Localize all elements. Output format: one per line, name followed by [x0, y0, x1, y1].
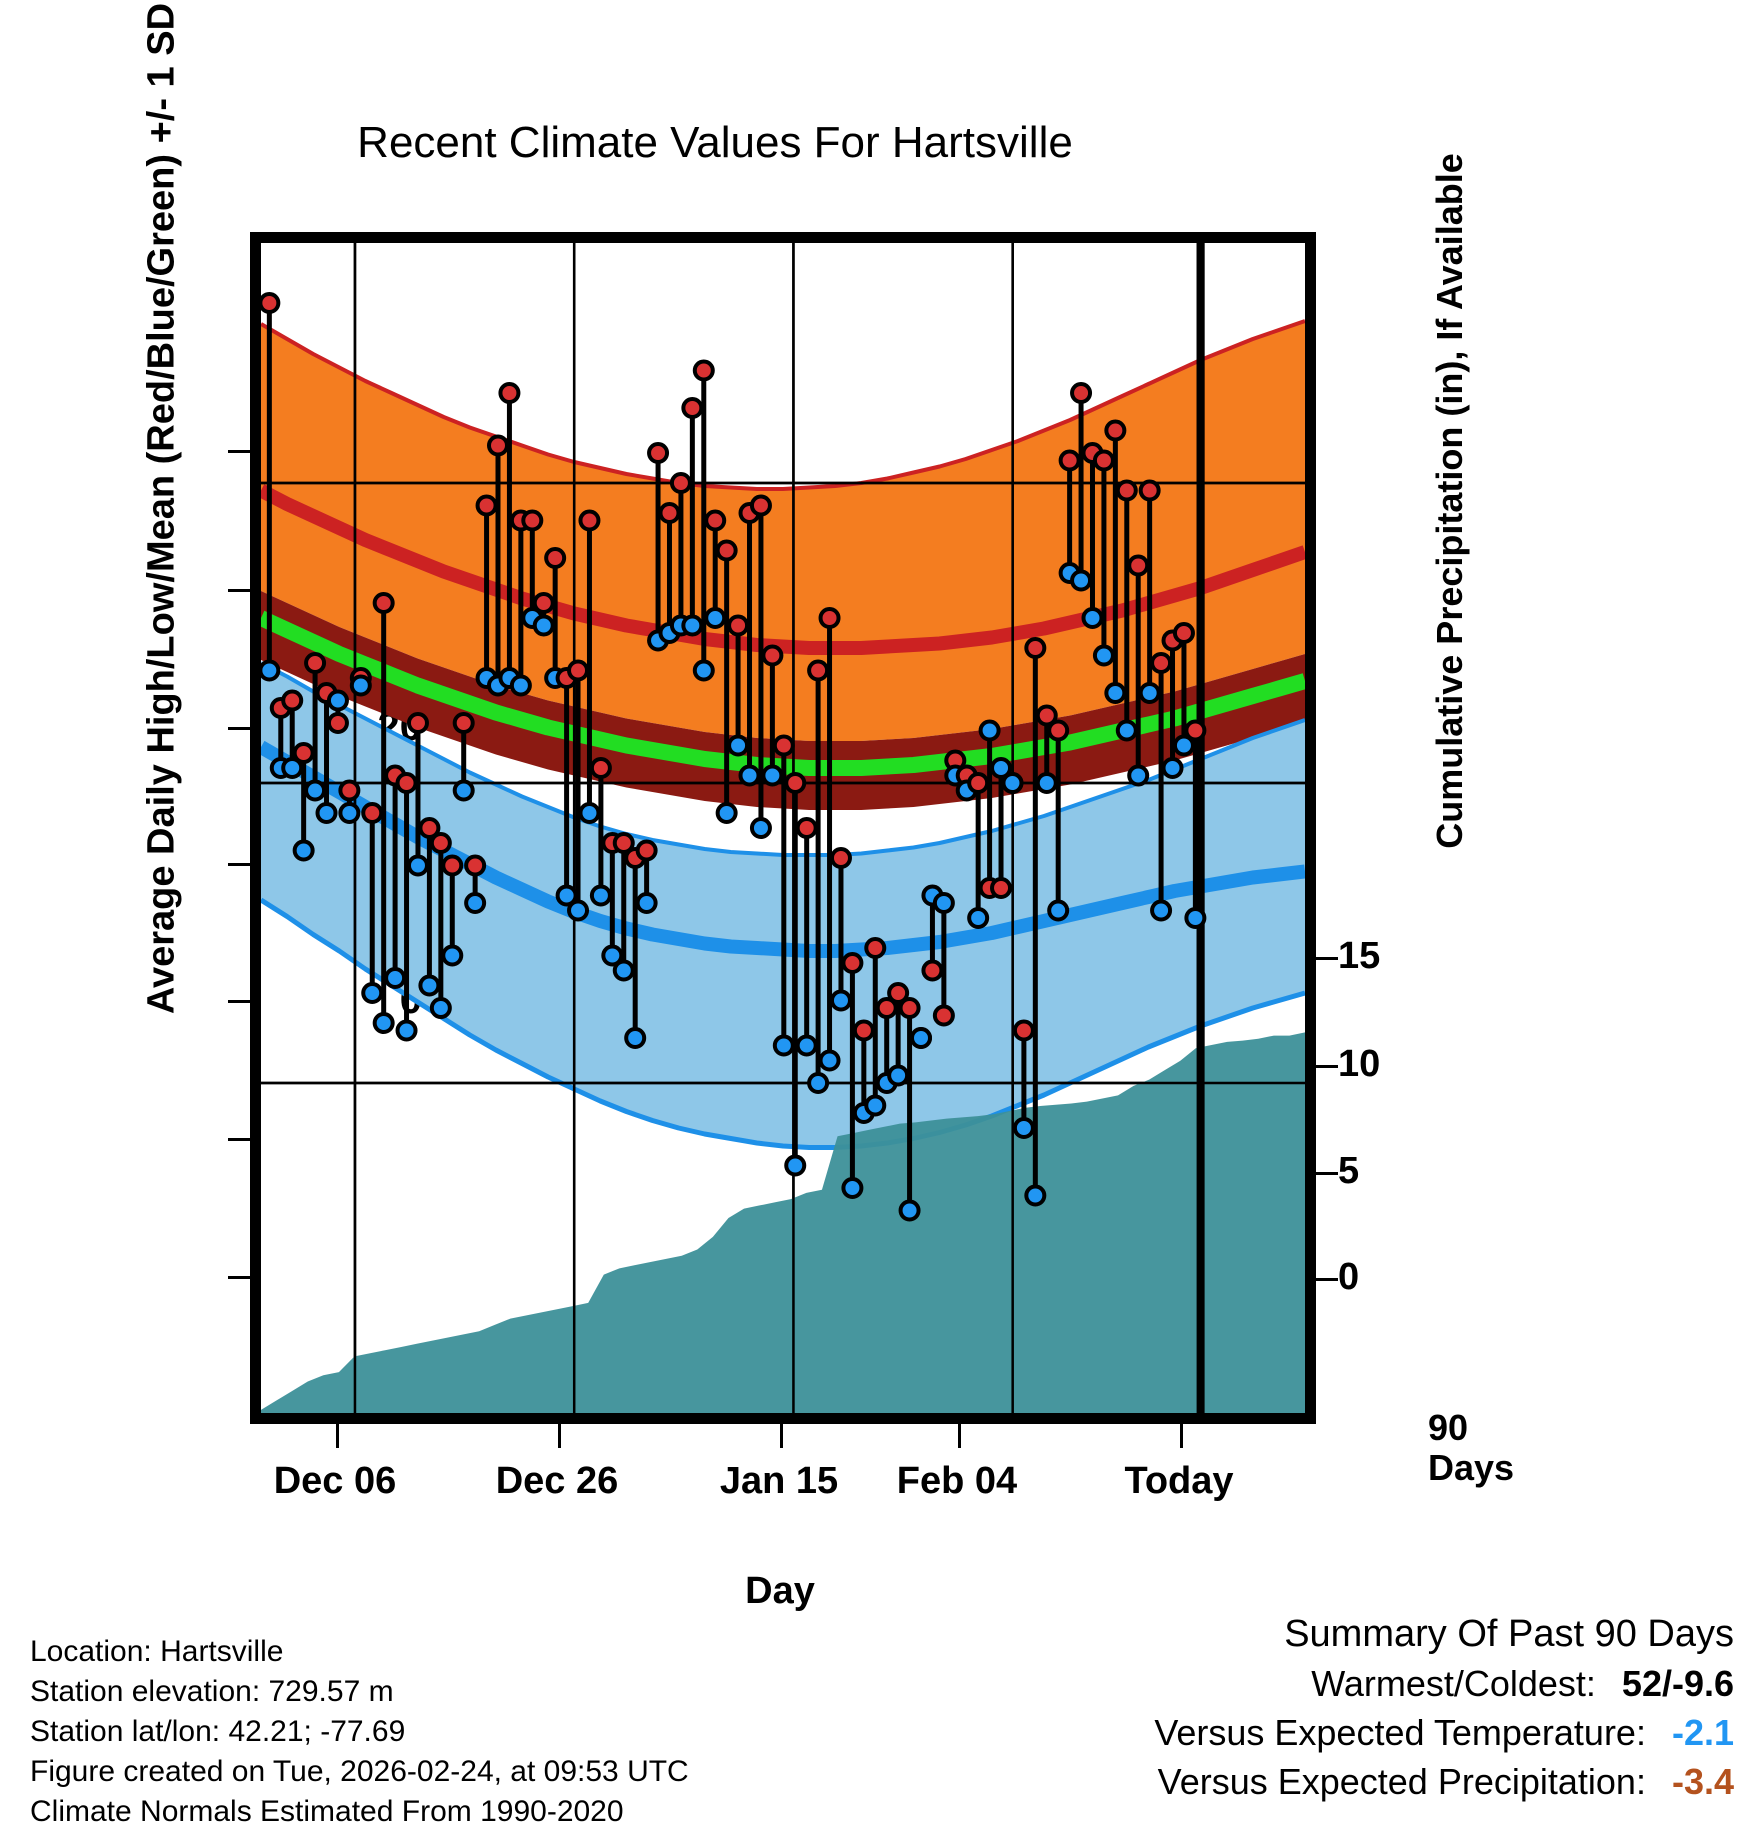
- x-axis-title: Day: [250, 1570, 1310, 1613]
- summary-vs-precipitation: Versus Expected Precipitation:-3.4: [1154, 1757, 1734, 1806]
- summary-vs-temperature: Versus Expected Temperature:-2.1: [1154, 1708, 1734, 1757]
- ninety-days-line2: Days: [1428, 1448, 1514, 1488]
- ninety-days-annotation: 90 Days: [1428, 1408, 1514, 1488]
- vs-precip-label: Versus Expected Precipitation:: [1158, 1761, 1646, 1802]
- footer-location: Location: Hartsville: [30, 1632, 689, 1672]
- page-title: Recent Climate Values For Hartsville: [0, 118, 1430, 168]
- vs-precip-value: -3.4: [1672, 1761, 1734, 1802]
- tick-left-40: [228, 450, 250, 453]
- tick-left-m20: [228, 1276, 250, 1279]
- y-tick-right-5: 5: [1338, 1150, 1458, 1193]
- vs-temp-value: -2.1: [1672, 1712, 1734, 1753]
- footer-latlon: Station lat/lon: 42.21; -77.69: [30, 1712, 689, 1752]
- y-axis-left-title: Average Daily High/Low/Mean (Red/Blue/Gr…: [141, 0, 184, 1069]
- tick-right-15: [1316, 957, 1338, 960]
- tick-left-10: [228, 863, 250, 866]
- tick-right-0: [1316, 1278, 1338, 1281]
- footer-normals: Climate Normals Estimated From 1990-2020: [30, 1792, 689, 1832]
- tick-bottom-5: [1180, 1424, 1183, 1448]
- tick-bottom-2: [558, 1424, 561, 1448]
- warmest-coldest-label: Warmest/Coldest:: [1311, 1663, 1596, 1704]
- tick-left-20: [228, 727, 250, 730]
- tick-right-5: [1316, 1172, 1338, 1175]
- summary-panel: Summary Of Past 90 Days Warmest/Coldest:…: [1154, 1610, 1734, 1806]
- footer-created: Figure created on Tue, 2026-02-24, at 09…: [30, 1752, 689, 1792]
- plot-border: [250, 232, 1316, 1424]
- tick-bottom-3: [780, 1424, 783, 1448]
- x-tick-today: Today: [1059, 1460, 1299, 1503]
- warmest-coldest-value: 52/-9.6: [1622, 1663, 1734, 1704]
- tick-left-m10: [228, 1138, 250, 1141]
- tick-bottom-1: [336, 1424, 339, 1448]
- tick-left-30: [228, 589, 250, 592]
- vs-temp-label: Versus Expected Temperature:: [1154, 1712, 1646, 1753]
- summary-title: Summary Of Past 90 Days: [1154, 1610, 1734, 1659]
- y-axis-right-title: Cumulative Precipitation (in), If Availa…: [1429, 0, 1471, 1061]
- x-tick-dec-26: Dec 26: [437, 1460, 677, 1503]
- x-tick-feb-04: Feb 04: [837, 1460, 1077, 1503]
- y-tick-right-15: 15: [1338, 935, 1458, 978]
- plot-area: 90 Days: [250, 232, 1316, 1424]
- climate-figure: Recent Climate Values For Hartsville Ave…: [0, 0, 1748, 1828]
- footer-elevation: Station elevation: 729.57 m: [30, 1672, 689, 1712]
- footer-metadata: Location: Hartsville Station elevation: …: [30, 1632, 689, 1832]
- tick-right-10: [1316, 1065, 1338, 1068]
- y-tick-right-10: 10: [1338, 1043, 1458, 1086]
- tick-left-0: [228, 1000, 250, 1003]
- ninety-days-line1: 90: [1428, 1408, 1514, 1448]
- x-tick-dec-06: Dec 06: [215, 1460, 455, 1503]
- summary-warmest-coldest: Warmest/Coldest:52/-9.6: [1154, 1659, 1734, 1708]
- tick-bottom-4: [958, 1424, 961, 1448]
- y-tick-right-0: 0: [1338, 1256, 1458, 1299]
